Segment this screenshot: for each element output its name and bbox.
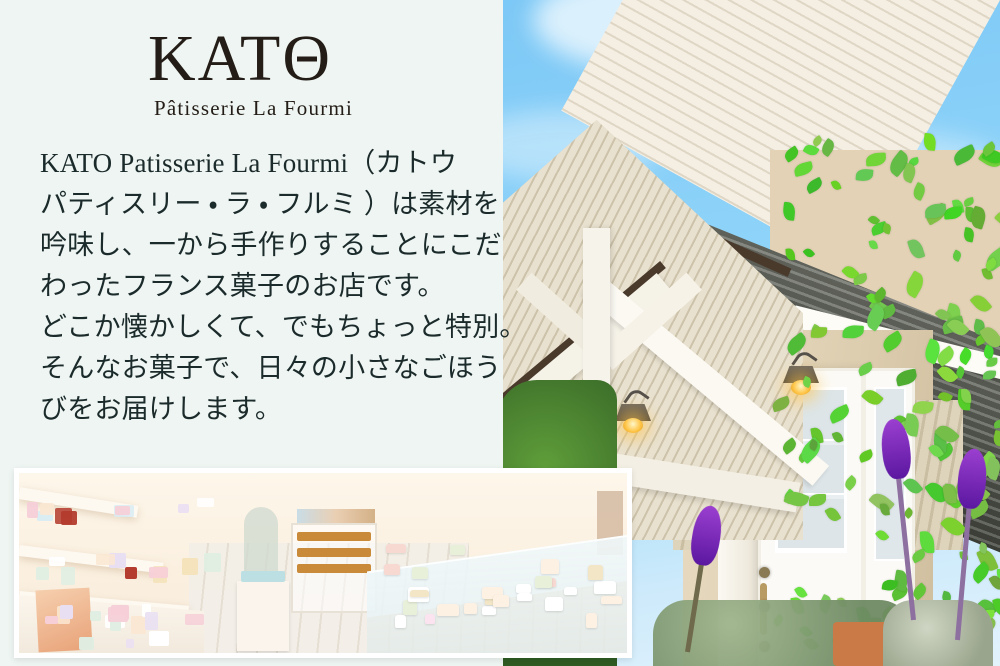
leaf	[907, 237, 926, 260]
leaf	[910, 548, 927, 563]
cake-item	[386, 544, 406, 552]
packaged-sweet	[115, 506, 129, 515]
leaf	[911, 182, 928, 201]
intro-line: どこか懐かしくて、でもちょっと特別。	[40, 307, 488, 348]
leaf	[785, 248, 795, 261]
leaf	[866, 153, 887, 167]
intro-line: KATO Patisserie La Fourmi（カトウ	[40, 143, 488, 184]
leaf	[875, 528, 890, 543]
leaf	[784, 332, 810, 356]
intro-line: 吟味し、一から手作りすることにこだ	[40, 225, 488, 266]
cake-item	[545, 597, 563, 611]
packaged-sweet	[145, 612, 157, 630]
theta-icon: O	[282, 26, 332, 92]
brand-logo-wordmark: KATO	[148, 26, 388, 92]
leaf	[782, 145, 801, 162]
vine-foliage	[770, 120, 1000, 666]
leaf	[803, 247, 815, 260]
leaf	[983, 370, 996, 380]
leaf	[843, 475, 859, 491]
intro-line: そんなお菓子で、日々の小さなごほう	[40, 348, 488, 389]
packaged-sweet	[40, 503, 54, 515]
packaged-sweet	[61, 567, 75, 586]
packaged-sweet	[204, 553, 221, 572]
leaf	[963, 197, 974, 207]
packaged-sweet	[125, 567, 137, 579]
leaf	[951, 250, 962, 262]
leaf	[956, 347, 973, 366]
theta-crossbar	[297, 57, 317, 62]
leaf	[781, 438, 799, 455]
wall-sconce-left	[613, 390, 653, 442]
leaf	[827, 403, 852, 424]
intro-line: びをお届けします。	[40, 389, 488, 430]
leaf	[986, 358, 997, 367]
folded-linens	[241, 571, 285, 582]
leaf	[940, 513, 967, 540]
bread-loaf	[297, 564, 371, 573]
leaf	[856, 169, 874, 182]
leaf	[802, 375, 813, 387]
brand-logo-letters: KAT	[148, 22, 282, 95]
cake-item	[541, 559, 559, 574]
cake-item	[535, 576, 552, 588]
packaged-sweet	[45, 616, 59, 625]
leaf	[963, 227, 975, 242]
intro-line: パティスリー ・ ラ ・ フルミ ）は素材を	[40, 184, 488, 225]
leaf	[994, 419, 1000, 428]
packaged-sweet	[60, 605, 73, 618]
leaf	[869, 239, 878, 249]
leaf	[970, 292, 993, 316]
leaf	[804, 177, 824, 195]
packaged-sweet	[149, 631, 169, 646]
leaf	[824, 505, 841, 524]
leaf	[912, 399, 934, 415]
cake-item	[517, 593, 533, 601]
leaf	[903, 476, 924, 497]
shop-scene	[19, 473, 627, 653]
cake-item	[493, 595, 509, 607]
packaged-sweet	[131, 616, 146, 634]
leaf	[936, 362, 958, 385]
bread-loaf	[297, 548, 371, 557]
leaf	[880, 331, 905, 354]
cake-item	[395, 615, 406, 628]
cake-item	[410, 590, 430, 597]
cake-item	[403, 600, 417, 615]
packaged-sweet	[61, 511, 76, 525]
cake-item	[516, 584, 530, 593]
leaf	[991, 429, 1000, 446]
leaf	[923, 132, 936, 150]
leaf	[856, 362, 874, 377]
leaf	[861, 387, 884, 409]
packaged-sweet	[36, 567, 48, 579]
cake-item	[482, 606, 496, 614]
bread-rack	[291, 523, 377, 613]
silver-foliage-plant	[883, 600, 993, 666]
leaf	[843, 325, 864, 339]
leaf	[782, 202, 796, 222]
brand-logo: KATO Pâtisserie La Fourmi	[148, 26, 388, 126]
packaged-sweet	[79, 637, 94, 651]
cake-item	[425, 614, 435, 624]
page-root: KATO Pâtisserie La Fourmi KATO Patisseri…	[0, 0, 1000, 666]
packaged-sweet	[182, 558, 198, 576]
cake-item	[464, 603, 477, 614]
packaged-sweet	[96, 554, 114, 565]
leaf	[810, 327, 826, 339]
leaf	[831, 430, 843, 443]
packaged-sweet	[27, 502, 39, 518]
side-table	[237, 581, 289, 651]
leaf	[809, 494, 826, 506]
sconce-bulb	[623, 418, 643, 433]
packaged-sweet	[185, 614, 204, 625]
cake-item	[564, 587, 577, 595]
leaf	[770, 395, 791, 412]
packaged-sweet	[197, 498, 214, 507]
cake-item	[586, 613, 597, 628]
intro-line: わったフランス菓子のお店です。	[40, 266, 488, 307]
cake-item	[412, 567, 428, 579]
packaged-sweet	[126, 639, 134, 649]
bread-loaf	[297, 532, 371, 541]
packaged-sweet	[90, 611, 101, 620]
packaged-sweet	[49, 557, 64, 566]
cake-item	[588, 565, 603, 580]
cake-item	[384, 564, 401, 575]
packaged-sweet	[178, 504, 189, 513]
cake-item	[594, 581, 616, 594]
leaf	[944, 207, 963, 220]
leaf	[951, 144, 978, 167]
brand-tagline: Pâtisserie La Fourmi	[154, 96, 388, 121]
leaf	[895, 369, 918, 387]
leaf	[938, 390, 954, 405]
leaf	[831, 178, 842, 191]
door-lock-upper[interactable]	[759, 567, 770, 578]
cake-item	[601, 596, 622, 603]
shop-interior-photo	[14, 468, 632, 658]
packaged-sweet	[149, 567, 168, 578]
leaf	[792, 161, 813, 177]
leaf	[995, 208, 1000, 230]
intro-paragraph: KATO Patisserie La Fourmi（カトウ パティスリー ・ ラ…	[40, 143, 488, 430]
leaf	[857, 449, 873, 463]
leaf	[902, 270, 927, 298]
cake-item	[450, 545, 465, 556]
cake-item	[437, 604, 458, 615]
packaged-sweet	[108, 607, 128, 622]
